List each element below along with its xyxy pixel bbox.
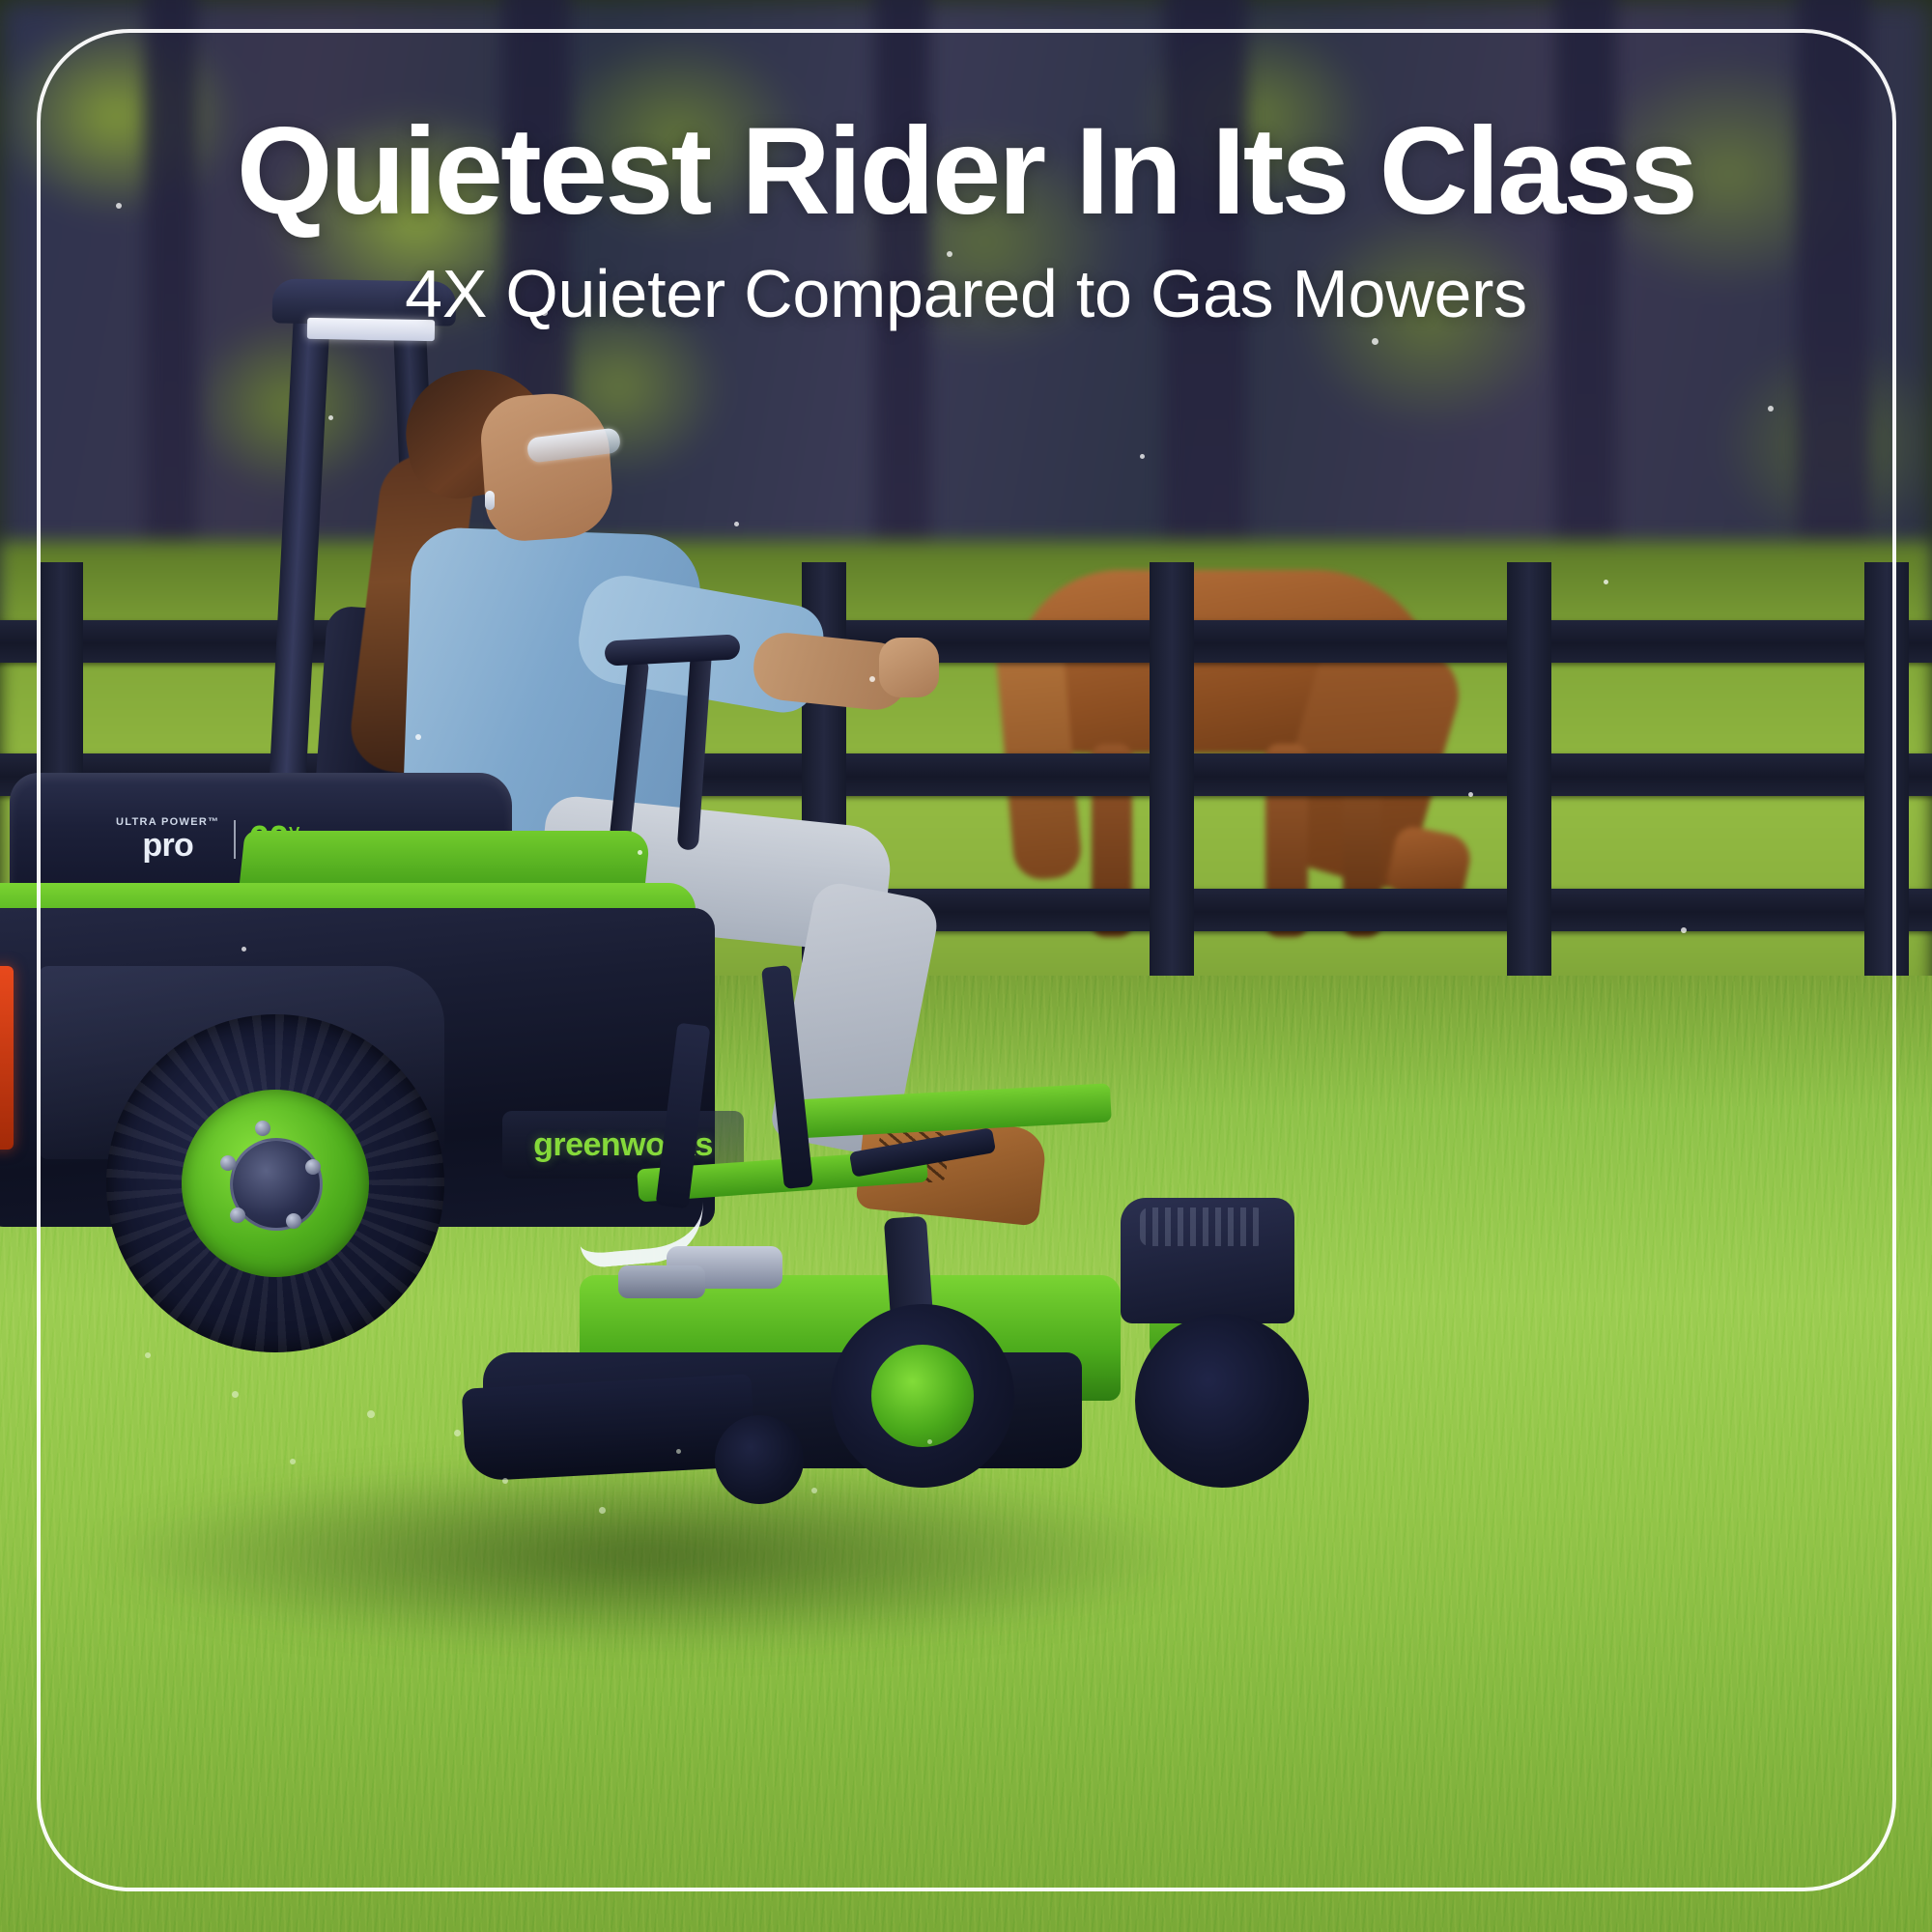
rear-drive-wheel: [106, 1014, 444, 1352]
deck-blade-motor: [618, 1265, 705, 1298]
lug-nut: [305, 1159, 321, 1175]
front-housing-vents: [1140, 1207, 1265, 1246]
rider-earring: [485, 491, 495, 510]
badge-divider: [234, 820, 236, 859]
pro-label: pro: [116, 829, 220, 862]
subheadline: 4X Quieter Compared to Gas Mowers: [135, 259, 1797, 330]
rider-hand: [879, 638, 939, 697]
caster-rim: [871, 1345, 974, 1447]
deck-discharge-shield: [462, 1374, 756, 1482]
fence-post: [1507, 562, 1551, 978]
pro-badge: ULTRA POWER™ pro: [116, 817, 220, 862]
lug-nut: [230, 1207, 245, 1223]
taillight: [0, 966, 14, 1150]
headline: Quietest Rider In Its Class: [135, 110, 1797, 234]
lug-nut: [286, 1213, 301, 1229]
zero-turn-mower: ULTRA POWER™ pro 60V greenworks: [0, 290, 1372, 1546]
lug-nut: [255, 1121, 270, 1136]
promo-text-block: Quietest Rider In Its Class 4X Quieter C…: [0, 0, 1932, 386]
promo-image: ULTRA POWER™ pro 60V greenworks: [0, 0, 1932, 1932]
fence-post: [1864, 562, 1909, 978]
front-caster-wheel: [1135, 1314, 1309, 1488]
rider-face: [478, 390, 615, 544]
lug-nut: [220, 1155, 236, 1171]
deck-roller: [715, 1415, 804, 1504]
